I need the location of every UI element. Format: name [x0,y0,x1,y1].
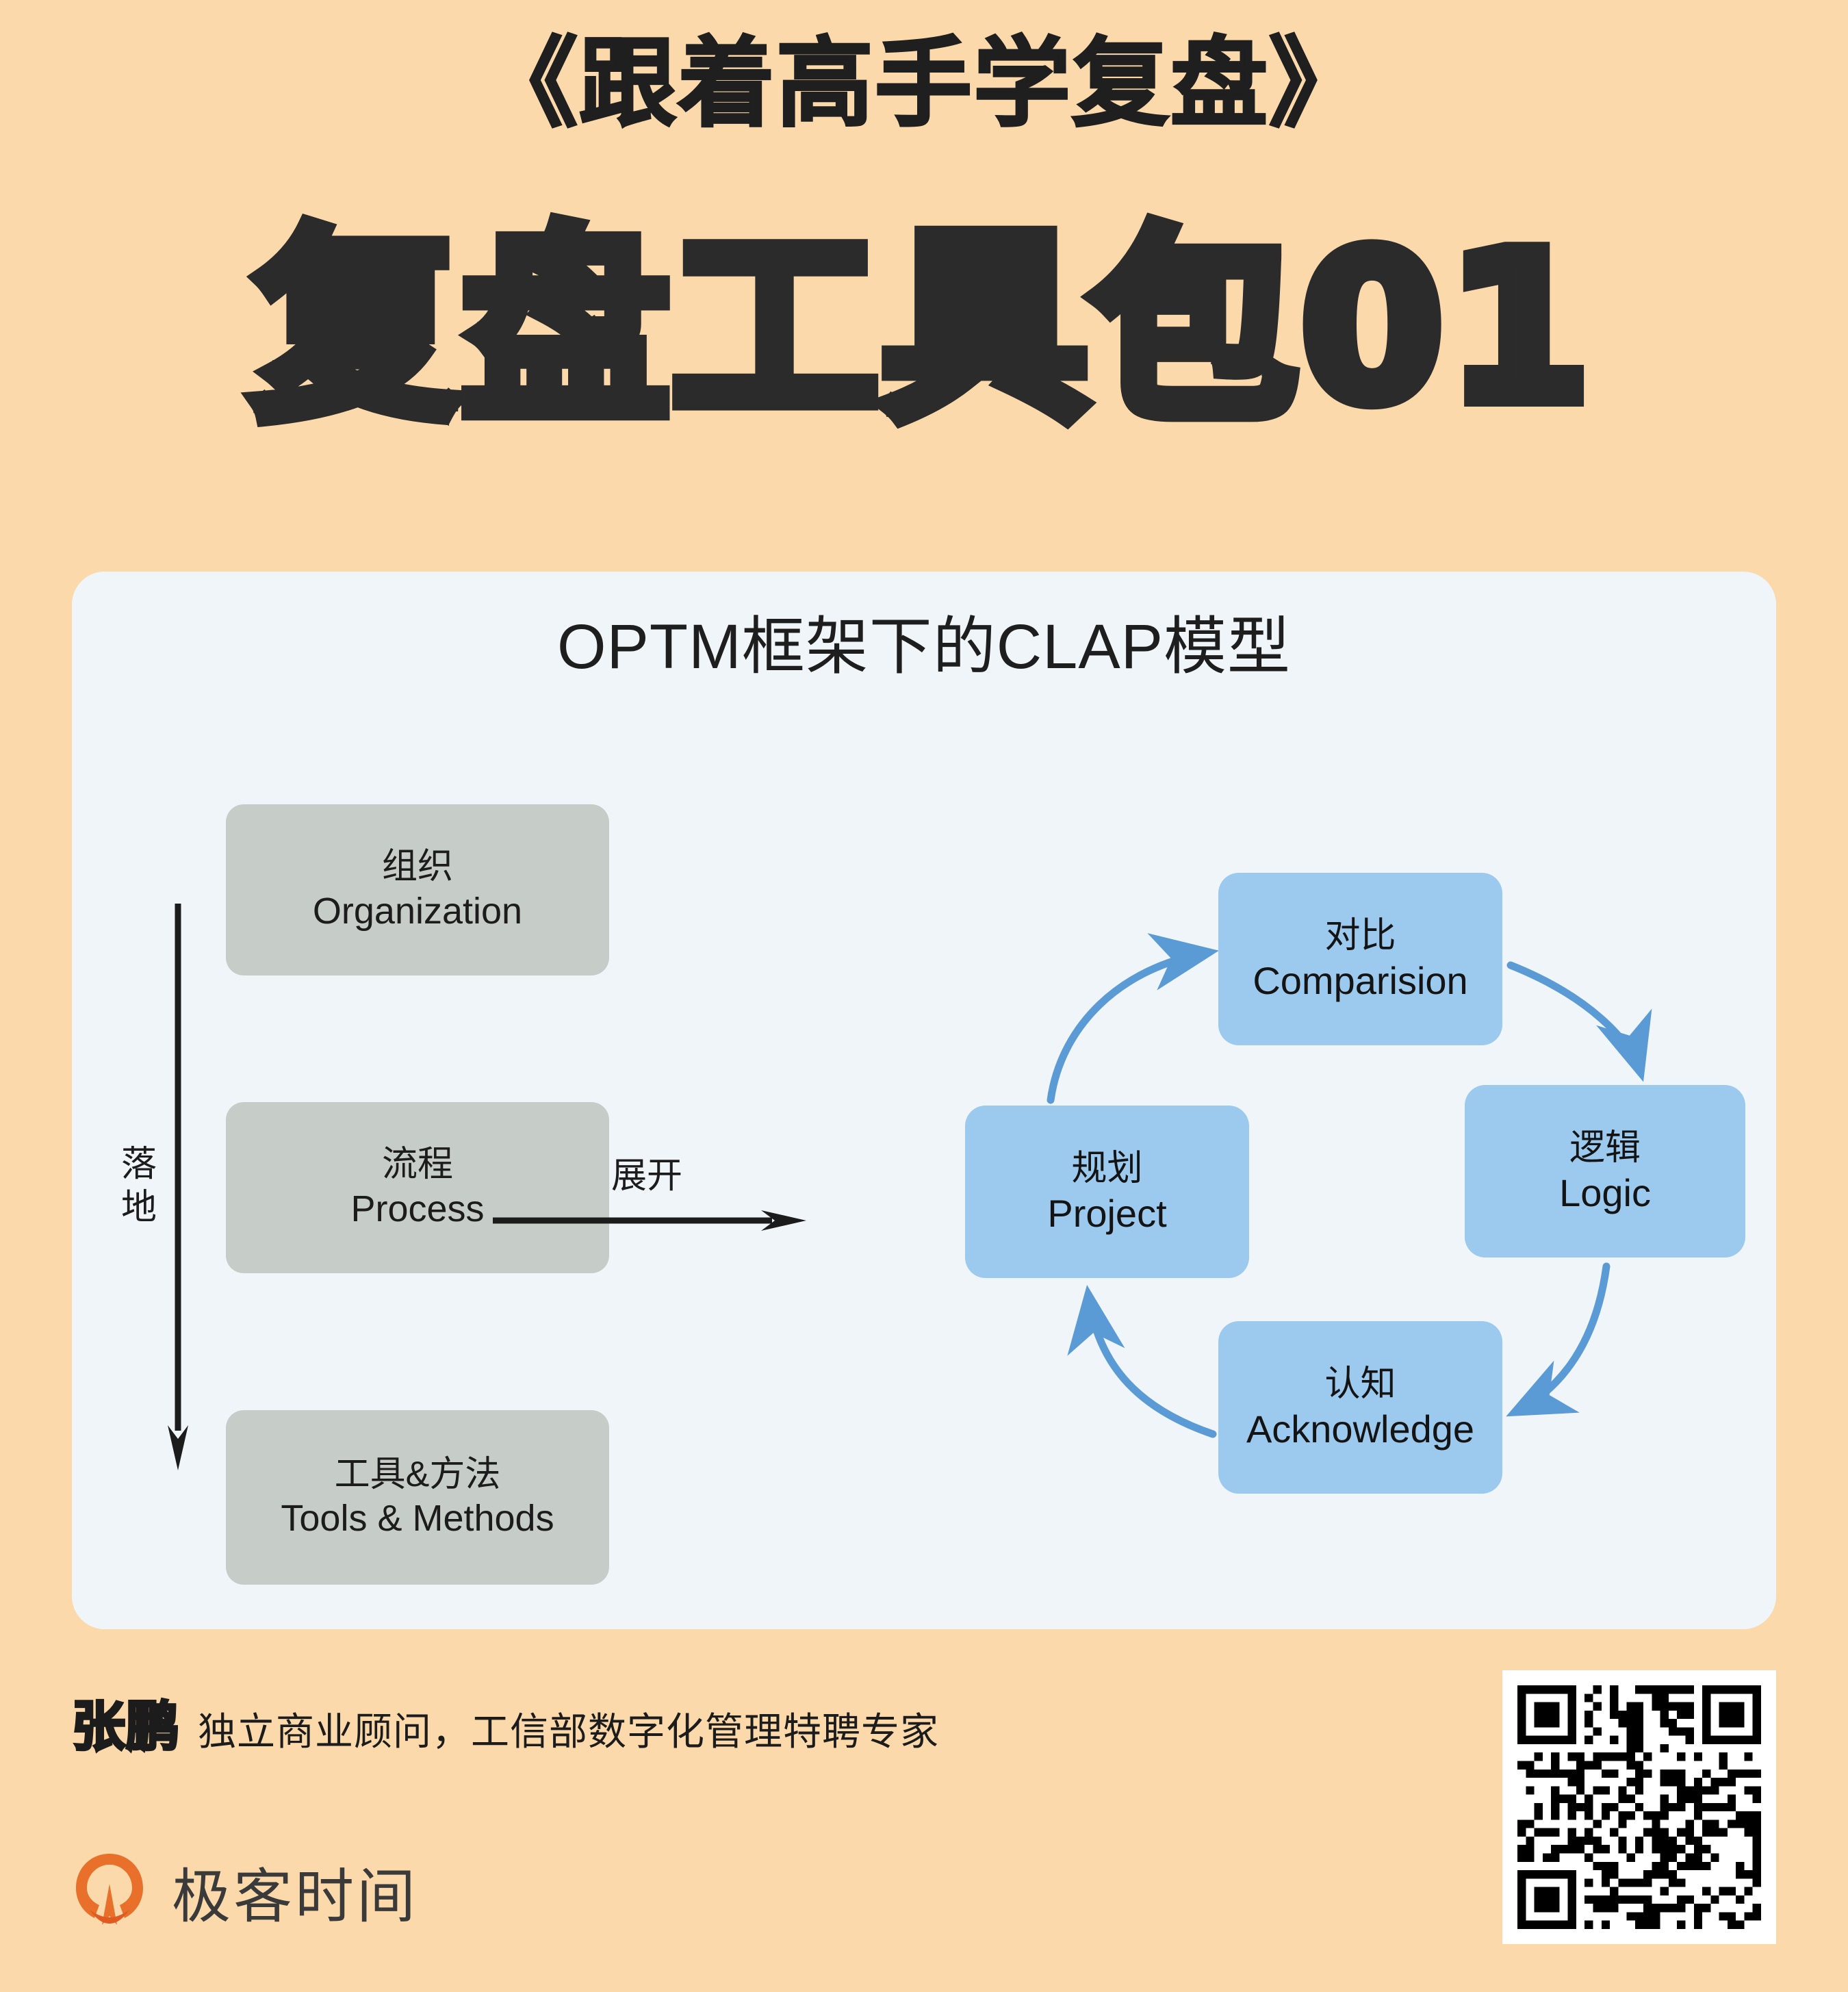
footer: 张鹏 独立商业顾问，工信部数字化管理特聘专家 极客时间 [72,1684,1776,1958]
expand-label: 展开 [565,1147,729,1198]
optm-box-label-en: Tools & Methods [281,1496,554,1542]
clap-box-label-cn: 规划 [1071,1147,1142,1190]
qr-code[interactable] [1502,1670,1776,1944]
author-name: 张鹏 [72,1684,180,1761]
expand-arrow-icon [493,1205,808,1236]
clap-box-comparision[interactable]: 对比 Comparision [1218,873,1502,1045]
clap-box-acknowledge[interactable]: 认知 Acknowledge [1218,1321,1502,1494]
author-role: 独立商业顾问，工信部数字化管理特聘专家 [198,1701,939,1757]
optm-box-label-en: Organization [313,889,522,934]
clap-box-label-cn: 对比 [1324,915,1396,957]
optm-box-organization[interactable]: 组织 Organization [226,804,609,975]
brand-name: 极客时间 [172,1848,418,1934]
page-subtitle: 《跟着高手学复盘》 [0,23,1848,145]
page-title: 复盘工具包01 [0,205,1848,452]
landing-arrow-icon [168,904,188,1472]
diagram-card: OPTM框架下的CLAP模型 落地 组织 Organization 流程 Pro… [72,572,1776,1629]
optm-box-process[interactable]: 流程 Process [226,1102,609,1273]
optm-box-tools-methods[interactable]: 工具&方法 Tools & Methods [226,1410,609,1585]
clap-box-label-en: Acknowledge [1246,1406,1474,1452]
optm-box-label-cn: 工具&方法 [335,1453,501,1496]
brand-row: 极客时间 [72,1848,418,1934]
clap-box-label-en: Comparision [1253,958,1467,1004]
clap-box-label-cn: 认知 [1324,1363,1396,1405]
clap-cycle: 对比 Comparision 逻辑 Logic 认知 Acknowledge 规… [914,832,1749,1571]
clap-box-project[interactable]: 规划 Project [965,1106,1249,1278]
clap-box-label-cn: 逻辑 [1569,1127,1641,1169]
author-line: 张鹏 独立商业顾问，工信部数字化管理特聘专家 [72,1684,939,1761]
clap-box-label-en: Logic [1559,1170,1651,1216]
clap-box-logic[interactable]: 逻辑 Logic [1465,1085,1745,1257]
diagram-title: OPTM框架下的CLAP模型 [72,613,1776,682]
optm-box-label-en: Process [350,1187,484,1232]
clap-box-label-en: Project [1047,1190,1166,1236]
landing-label: 落地 [113,1143,165,1230]
qr-canvas [1517,1685,1761,1929]
optm-box-label-cn: 组织 [382,845,453,889]
geekbang-logo-icon [72,1851,147,1932]
optm-box-label-cn: 流程 [382,1143,453,1186]
